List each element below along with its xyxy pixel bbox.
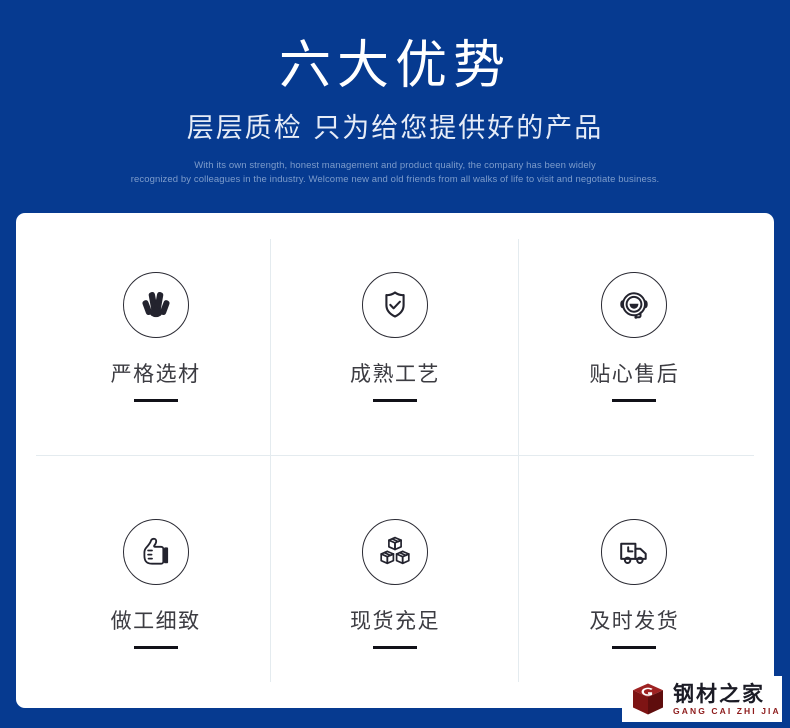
advantage-underline — [373, 399, 417, 402]
icon-frame — [123, 519, 189, 585]
page-subtitle: 层层质检 只为给您提供好的产品 — [0, 112, 790, 146]
advantage-item-4[interactable]: 做工细致 — [36, 461, 275, 709]
advantage-underline — [373, 646, 417, 649]
icon-frame — [123, 272, 189, 338]
promo-banner: 六大优势 层层质检 只为给您提供好的产品 With its own streng… — [0, 0, 790, 728]
advantage-item-6[interactable]: 及时发货 — [515, 461, 754, 709]
icon-frame — [362, 272, 428, 338]
advantage-label: 做工细致 — [111, 608, 201, 634]
advantage-label: 成熟工艺 — [350, 361, 440, 387]
advantages-grid: 严格选材 成熟工艺 — [36, 213, 754, 708]
advantage-item-3[interactable]: 贴心售后 — [515, 213, 754, 461]
logo-text: 钢材之家 GANG CAI ZHI JIA — [673, 683, 781, 716]
logo-name-cn: 钢材之家 — [673, 683, 781, 705]
english-description-line-1: With its own strength, honest management… — [0, 159, 790, 173]
advantage-item-1[interactable]: 严格选材 — [36, 213, 275, 461]
thumbs-up-icon — [136, 532, 176, 572]
english-description: With its own strength, honest management… — [0, 159, 790, 187]
icon-frame — [362, 519, 428, 585]
advantages-card: 严格选材 成熟工艺 — [16, 213, 774, 708]
advantage-underline — [612, 646, 656, 649]
advantage-underline — [134, 646, 178, 649]
advantage-underline — [134, 399, 178, 402]
icon-frame — [601, 519, 667, 585]
advantage-item-5[interactable]: 现货充足 — [275, 461, 514, 709]
advantage-underline — [612, 399, 656, 402]
stacked-boxes-icon — [375, 532, 415, 572]
cube-g-icon — [630, 681, 666, 717]
advantage-item-2[interactable]: 成熟工艺 — [275, 213, 514, 461]
advantage-label: 现货充足 — [350, 608, 440, 634]
advantage-label: 贴心售后 — [589, 361, 679, 387]
site-logo[interactable]: 钢材之家 GANG CAI ZHI JIA — [622, 676, 782, 722]
delivery-truck-icon — [614, 532, 654, 572]
headset-icon — [614, 285, 654, 325]
icon-frame — [601, 272, 667, 338]
english-description-line-2: recognized by colleagues in the industry… — [0, 173, 790, 187]
steel-pipes-icon — [136, 285, 176, 325]
advantage-label: 严格选材 — [111, 361, 201, 387]
advantage-label: 及时发货 — [589, 608, 679, 634]
logo-name-en: GANG CAI ZHI JIA — [673, 706, 781, 716]
header: 六大优势 层层质检 只为给您提供好的产品 With its own streng… — [0, 0, 790, 213]
page-title: 六大优势 — [0, 36, 790, 96]
shield-check-icon — [375, 285, 415, 325]
